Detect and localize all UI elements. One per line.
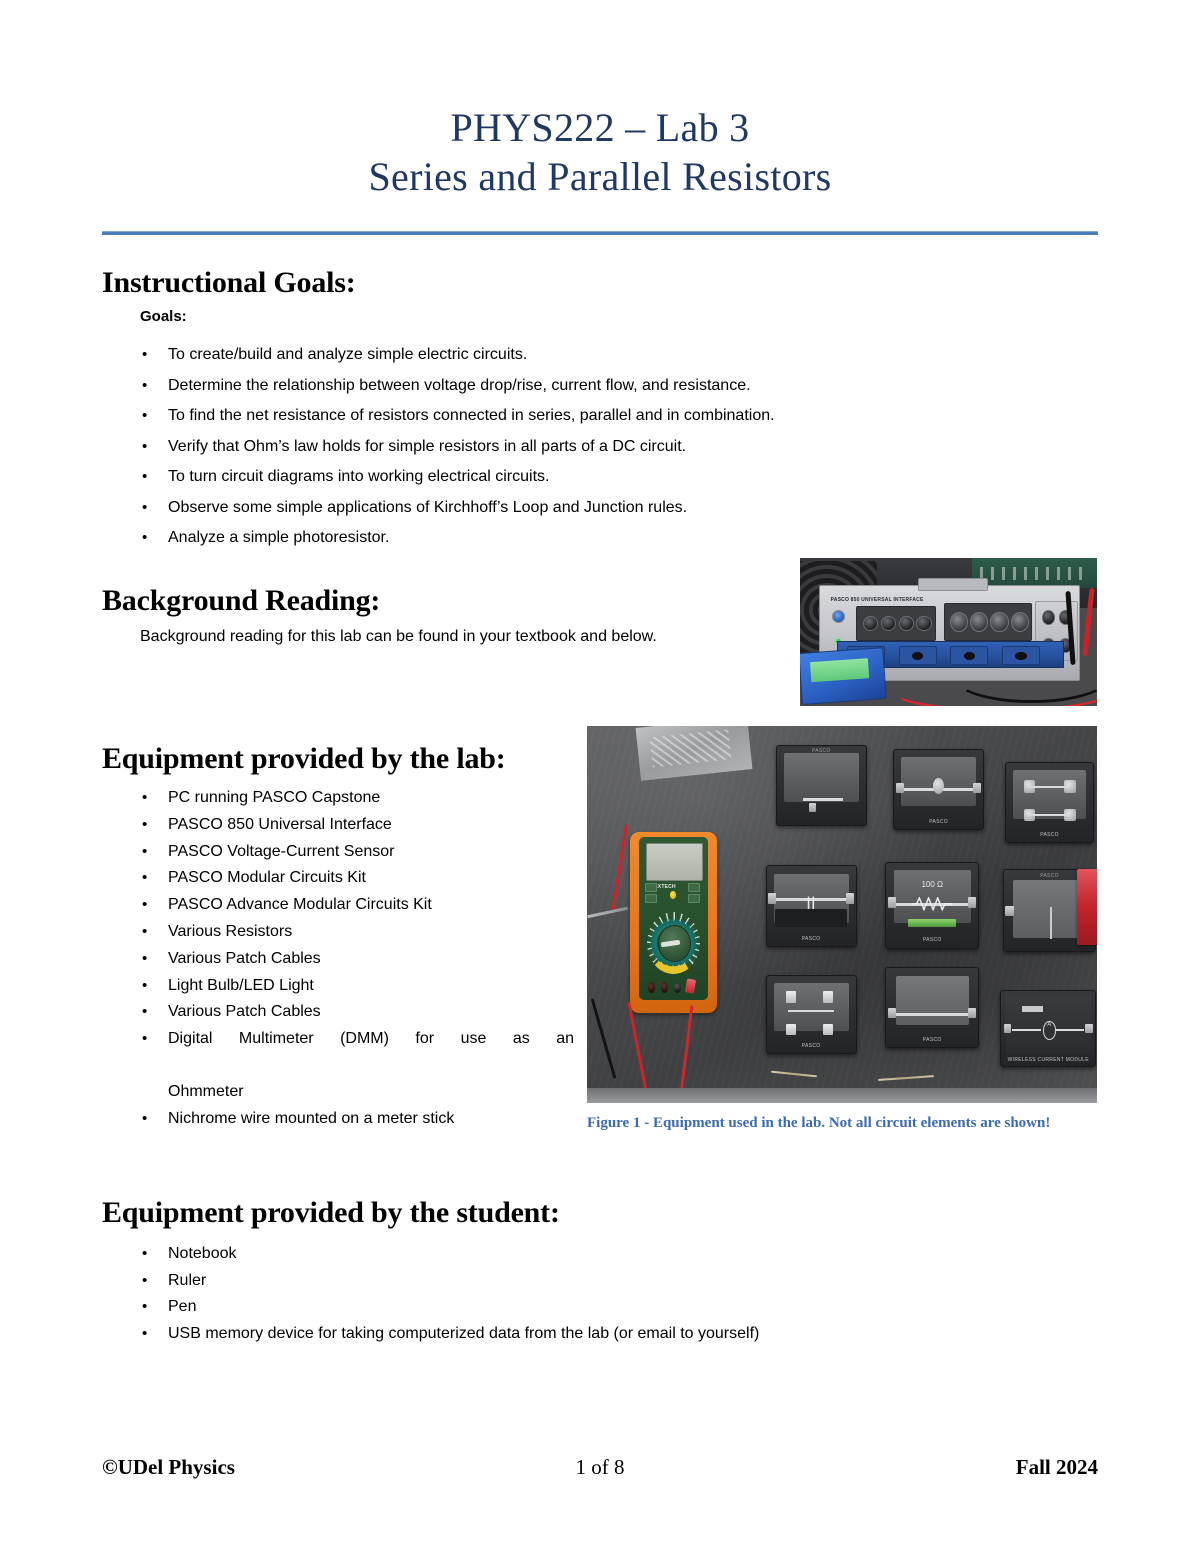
module-trace: [1029, 814, 1071, 816]
list-item: PASCO Advance Modular Circuits Kit: [134, 892, 574, 919]
list-item: To turn circuit diagrams into working el…: [134, 462, 954, 493]
list-item-dmm-line2: Ohmmeter: [168, 1083, 244, 1100]
interface-handle: [918, 578, 987, 591]
multimeter-button: [688, 883, 700, 892]
module-terminal: [1005, 906, 1013, 917]
list-item: To create/build and analyze simple elect…: [134, 340, 954, 371]
circuit-module-switch: PASCO: [766, 975, 857, 1054]
jack-icon: [881, 616, 896, 632]
module-terminal: [968, 897, 976, 908]
list-item-dmm: Digital Multimeter (DMM) for use as an O…: [134, 1026, 574, 1106]
module-trace: [1029, 786, 1071, 788]
list-item: Various Resistors: [134, 919, 574, 946]
title-line-2: Series and Parallel Resistors: [102, 153, 1098, 202]
module-terminal: [888, 1008, 896, 1018]
output-jack-icon: [1042, 610, 1056, 625]
student-equipment-list: Notebook Ruler Pen USB memory device for…: [134, 1241, 964, 1347]
list-item: Determine the relationship between volta…: [134, 371, 954, 402]
module-plate: [896, 976, 969, 1025]
list-item: PASCO 850 Universal Interface: [134, 812, 574, 839]
list-item: Analyze a simple photoresistor.: [134, 523, 954, 554]
background-reading-text: Background reading for this lab can be f…: [140, 628, 800, 646]
heading-background-reading: Background Reading:: [102, 584, 380, 618]
list-item: Various Patch Cables: [134, 946, 574, 973]
module-terminal: [786, 991, 796, 1003]
jack-icon: [661, 982, 668, 993]
list-item: PASCO Modular Circuits Kit: [134, 865, 574, 892]
module-green-indicator: [908, 919, 956, 927]
list-item-dmm-line1: Digital Multimeter (DMM) for use as an: [168, 1026, 574, 1079]
module-terminal: [823, 991, 833, 1003]
module-terminal: [888, 897, 896, 908]
din-connector-icon: [970, 612, 988, 632]
module-display-strip: [1022, 1006, 1043, 1012]
module-label: PASCO: [767, 1043, 856, 1049]
digital-multimeter: EXTECH: [630, 832, 717, 1013]
module-label: PASCO: [1006, 832, 1093, 838]
list-item: Notebook: [134, 1241, 964, 1268]
circuit-module: PASCO: [1005, 762, 1094, 843]
photo-lab-equipment: EXTECH: [587, 726, 1097, 1103]
din-connector-icon: [950, 612, 968, 632]
multimeter-button: [645, 894, 657, 903]
list-item: Light Bulb/LED Light: [134, 973, 574, 1000]
multimeter-lcd-display: [646, 843, 703, 881]
module-top-label: PASCO: [777, 748, 866, 754]
resistor-symbol: [912, 897, 952, 911]
module-terminal: [1085, 1024, 1093, 1033]
bench-edge: [587, 1088, 1097, 1103]
list-item: USB memory device for taking computerize…: [134, 1321, 964, 1348]
din-connector-icon: [990, 612, 1008, 632]
circuit-module: PASCO: [893, 749, 984, 830]
module-terminal: [846, 893, 854, 903]
interface-brand-label: PASCO 850 UNIVERSAL INTERFACE: [831, 597, 924, 603]
module-terminal: [823, 1024, 833, 1036]
module-terminal: [1004, 1024, 1012, 1033]
list-item: Observe some simple applications of Kirc…: [134, 493, 954, 524]
heading-student-equipment: Equipment provided by the student:: [102, 1196, 560, 1230]
multimeter-brand-label: EXTECH: [654, 884, 675, 890]
module-trace: [1012, 1029, 1040, 1031]
circuit-module-ammeter: A WIRELESS CURRENT MODULE: [1000, 990, 1096, 1067]
module-trace: [788, 1010, 834, 1012]
module-dark-panel: [775, 909, 846, 926]
module-terminal: [968, 1008, 976, 1018]
module-terminal: [768, 893, 776, 903]
module-label: WIRELESS CURRENT MODULE: [1001, 1057, 1095, 1063]
footer-page-number: 1 of 8: [102, 1455, 1098, 1480]
page-footer: ©UDel Physics 1 of 8 Fall 2024: [102, 1455, 1098, 1485]
title-divider: [102, 231, 1098, 235]
jack-icon: [674, 982, 681, 993]
photo-circuit-board: [972, 558, 1097, 588]
figure-caption: Figure 1 - Equipment used in the lab. No…: [587, 1113, 1097, 1134]
module-terminal: [896, 783, 904, 793]
module-label: PASCO: [886, 937, 978, 943]
module-trace: [803, 798, 842, 801]
module-resistance-value: 100 Ω: [886, 880, 978, 889]
list-item: To find the net resistance of resistors …: [134, 401, 954, 432]
module-trace: [892, 1013, 973, 1016]
din-connector-icon: [1011, 612, 1029, 632]
banana-port-icon: [899, 646, 937, 665]
circuit-module-capacitor: PASCO: [766, 865, 857, 946]
resistor-icon: [912, 897, 952, 911]
power-button-icon: [832, 610, 845, 623]
module-terminal: [786, 1024, 796, 1036]
multimeter-button: [688, 894, 700, 903]
module-label: PASCO: [767, 936, 856, 942]
multimeter-button: [645, 883, 657, 892]
multimeter-dial-ring: [647, 912, 700, 974]
multimeter-face: EXTECH: [639, 837, 708, 1000]
module-label: PASCO: [894, 819, 983, 825]
jack-icon: [863, 616, 878, 632]
black-cable: [954, 653, 1097, 703]
document-page: PHYS222 – Lab 3 Series and Parallel Resi…: [0, 0, 1200, 1553]
jack-icon: [648, 982, 655, 993]
list-item: Ruler: [134, 1268, 964, 1295]
goals-list: To create/build and analyze simple elect…: [134, 340, 954, 554]
lab-equipment-list: PC running PASCO Capstone PASCO 850 Univ…: [134, 785, 574, 1132]
red-alligator-clip: [1077, 869, 1097, 944]
heading-instructional-goals: Instructional Goals:: [102, 266, 356, 300]
circuit-module: PASCO: [776, 745, 867, 826]
red-probe-plug: [685, 978, 696, 993]
list-item: Verify that Ohm’s law holds for simple r…: [134, 432, 954, 463]
footer-term: Fall 2024: [1016, 1455, 1098, 1480]
photo-pasco-850-interface: PASCO 850 UNIVERSAL INTERFACE: [800, 558, 1097, 706]
module-label: PASCO: [886, 1037, 978, 1043]
analog-inputs-panel: [944, 603, 1031, 641]
jack-icon: [916, 616, 931, 632]
list-item: Various Patch Cables: [134, 999, 574, 1026]
page-title: PHYS222 – Lab 3 Series and Parallel Resi…: [102, 104, 1098, 202]
module-plate: [784, 753, 859, 802]
digital-inputs-panel: [856, 606, 936, 640]
module-bulb-socket: [933, 778, 944, 794]
title-line-1: PHYS222 – Lab 3: [102, 104, 1098, 153]
circuit-module-resistor-100ohm: 100 Ω PASCO: [885, 862, 979, 949]
multimeter-jack-row: [647, 980, 701, 995]
ammeter-icon: A: [1043, 1021, 1056, 1040]
jack-icon: [899, 616, 914, 632]
module-terminal: [973, 783, 981, 793]
module-divider: [1050, 907, 1052, 939]
multimeter-power-button: [670, 891, 676, 899]
list-item: Nichrome wire mounted on a meter stick: [134, 1106, 574, 1133]
module-trace: [1056, 1029, 1084, 1031]
goals-sub-label: Goals:: [140, 308, 187, 325]
module-terminal: [809, 803, 816, 812]
module-plate: [774, 983, 849, 1031]
list-item: Pen: [134, 1294, 964, 1321]
list-item: PC running PASCO Capstone: [134, 785, 574, 812]
blue-sensor-module: [800, 647, 887, 705]
circuit-module-blank: PASCO: [885, 967, 979, 1048]
list-item: PASCO Voltage-Current Sensor: [134, 839, 574, 866]
heading-lab-equipment: Equipment provided by the lab:: [102, 742, 506, 776]
